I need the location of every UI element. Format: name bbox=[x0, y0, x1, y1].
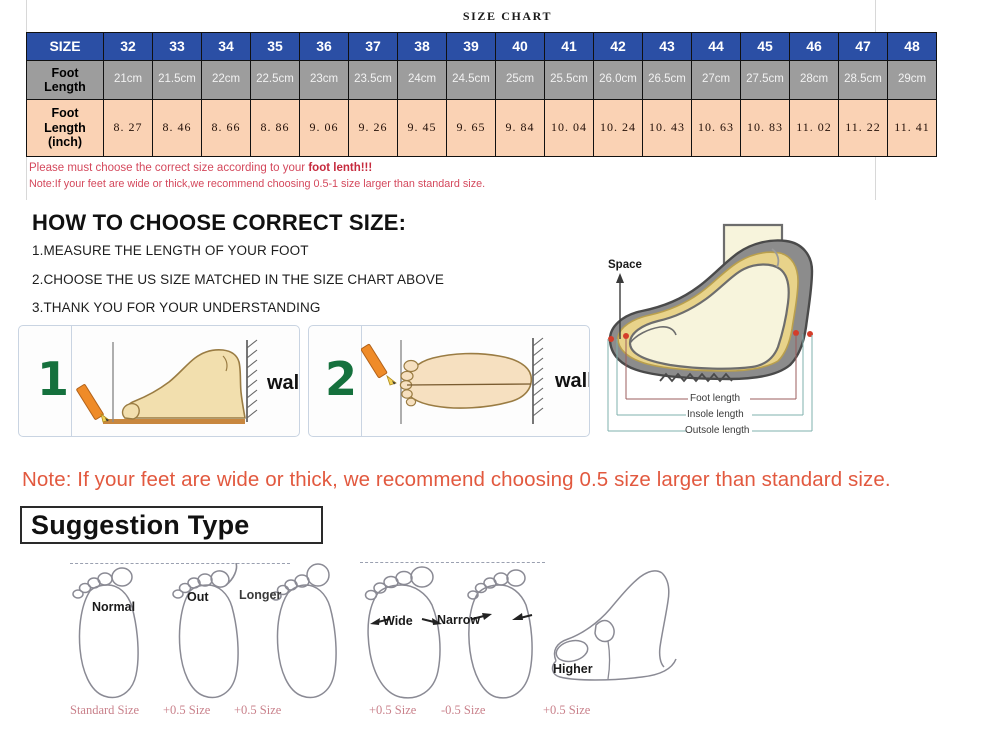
suggestion-label-wide: Wide bbox=[383, 614, 413, 628]
table-row-foot-length-inch: Foot Length (inch) 8. 27 8. 46 8. 66 8. … bbox=[27, 100, 937, 157]
how-to-step-1: 1.MEASURE THE LENGTH OF YOUR FOOT bbox=[32, 243, 309, 258]
suggestion-label-out: Out bbox=[187, 590, 209, 604]
how-to-step-3: 3.THANK YOU FOR YOUR UNDERSTANDING bbox=[32, 300, 320, 315]
foot-silhouette bbox=[405, 354, 531, 409]
header-cell-size-38: 38 bbox=[398, 33, 447, 61]
step-1-number: 1 bbox=[37, 356, 69, 402]
row-label-line3: (inch) bbox=[27, 135, 103, 149]
narrow-arrows bbox=[472, 613, 532, 620]
header-cell-size-34: 34 bbox=[202, 33, 251, 61]
suggestion-caption-higher: +0.5 Size bbox=[543, 703, 590, 718]
header-cell-size-35: 35 bbox=[251, 33, 300, 61]
row-label-line1: Foot bbox=[27, 66, 103, 80]
suggestion-label-normal: Normal bbox=[92, 600, 135, 614]
cell-cm-43: 26.5cm bbox=[643, 61, 692, 100]
header-cell-size: SIZE bbox=[27, 33, 104, 61]
row-label-foot-length-inch: Foot Length (inch) bbox=[27, 100, 104, 157]
cell-cm-32: 21cm bbox=[104, 61, 153, 100]
size-chart-page: SIZE CHART SIZE 32 33 34 35 36 37 38 39 … bbox=[0, 0, 1000, 730]
cell-inch-41: 10. 04 bbox=[545, 100, 594, 157]
header-cell-size-32: 32 bbox=[104, 33, 153, 61]
foot-outline-normal bbox=[73, 568, 138, 697]
suggestion-label-longer: Longer bbox=[239, 588, 281, 602]
cell-cm-48: 29cm bbox=[888, 61, 937, 100]
cell-cm-47: 28.5cm bbox=[839, 61, 888, 100]
step-1-wall-label: wall bbox=[267, 372, 300, 395]
suggestion-caption-narrow: -0.5 Size bbox=[441, 703, 485, 718]
header-cell-size-37: 37 bbox=[349, 33, 398, 61]
floor-board bbox=[103, 419, 245, 424]
shoe-foot-length-label: Foot length bbox=[690, 393, 740, 404]
cell-inch-34: 8. 66 bbox=[202, 100, 251, 157]
suggestion-caption-wide: +0.5 Size bbox=[369, 703, 416, 718]
suggestion-foot-outlines-group-2 bbox=[360, 563, 690, 713]
cell-inch-44: 10. 63 bbox=[692, 100, 741, 157]
cell-cm-37: 23.5cm bbox=[349, 61, 398, 100]
suggestion-type-heading-box: Suggestion Type bbox=[20, 506, 323, 544]
cell-inch-40: 9. 84 bbox=[496, 100, 545, 157]
row-label-foot-length-cm: Foot Length bbox=[27, 61, 104, 100]
cell-cm-42: 26.0cm bbox=[594, 61, 643, 100]
measure-step-2-diagram: 2 bbox=[308, 325, 590, 437]
pencil-icon bbox=[76, 384, 109, 422]
cell-inch-45: 10. 83 bbox=[741, 100, 790, 157]
header-cell-size-40: 40 bbox=[496, 33, 545, 61]
cell-cm-41: 25.5cm bbox=[545, 61, 594, 100]
page-title: SIZE CHART bbox=[0, 9, 1000, 24]
row-label-line1: Foot bbox=[27, 106, 103, 120]
marker-toe-outsole bbox=[608, 336, 614, 342]
step-2-number: 2 bbox=[325, 356, 357, 402]
header-cell-size-42: 42 bbox=[594, 33, 643, 61]
measure-step-1-diagram: 1 bbox=[18, 325, 300, 437]
foot-silhouette bbox=[124, 350, 245, 418]
size-chart-table: SIZE 32 33 34 35 36 37 38 39 40 41 42 43… bbox=[26, 32, 937, 157]
table-header-row: SIZE 32 33 34 35 36 37 38 39 40 41 42 43… bbox=[27, 33, 937, 61]
cell-inch-42: 10. 24 bbox=[594, 100, 643, 157]
suggestion-caption-longer: +0.5 Size bbox=[234, 703, 281, 718]
suggestion-label-higher: Higher bbox=[553, 662, 593, 676]
table-left-rule-lower bbox=[26, 150, 27, 200]
wall-hatching bbox=[247, 340, 257, 418]
shoe-insole-length-label: Insole length bbox=[687, 409, 744, 420]
marker-toe-foot bbox=[623, 333, 629, 339]
foot-outline-narrow bbox=[468, 570, 532, 698]
shoe-cross-section-diagram bbox=[600, 215, 900, 445]
foot-outline-wide bbox=[366, 567, 441, 698]
red-warning-notes: Please must choose the correct size acco… bbox=[29, 160, 569, 192]
row-label-line2: Length bbox=[27, 121, 103, 135]
red-note-line-1-bold: foot lenth!!! bbox=[308, 162, 372, 174]
pencil-icon bbox=[361, 344, 396, 385]
cell-inch-43: 10. 43 bbox=[643, 100, 692, 157]
header-cell-size-48: 48 bbox=[888, 33, 937, 61]
cell-inch-37: 9. 26 bbox=[349, 100, 398, 157]
foot-side-view-illustration bbox=[71, 326, 299, 437]
header-cell-size-41: 41 bbox=[545, 33, 594, 61]
big-toe bbox=[123, 404, 140, 419]
shoe-space-label: Space bbox=[608, 259, 642, 271]
cell-cm-40: 25cm bbox=[496, 61, 545, 100]
cell-cm-36: 23cm bbox=[300, 61, 349, 100]
suggestion-type-heading: Suggestion Type bbox=[22, 508, 321, 542]
table-left-rule bbox=[26, 0, 27, 32]
header-cell-size-44: 44 bbox=[692, 33, 741, 61]
cell-inch-47: 11. 22 bbox=[839, 100, 888, 157]
suggestion-caption-normal: Standard Size bbox=[70, 703, 139, 718]
foot-outline-longer bbox=[271, 564, 336, 697]
header-cell-size-36: 36 bbox=[300, 33, 349, 61]
cell-inch-46: 11. 02 bbox=[790, 100, 839, 157]
step-2-wall-label: wall bbox=[555, 370, 590, 393]
header-cell-size-43: 43 bbox=[643, 33, 692, 61]
cell-cm-44: 27cm bbox=[692, 61, 741, 100]
cell-cm-35: 22.5cm bbox=[251, 61, 300, 100]
how-to-heading: HOW TO CHOOSE CORRECT SIZE: bbox=[32, 210, 406, 236]
cell-inch-32: 8. 27 bbox=[104, 100, 153, 157]
red-note-line-2: Note:If your feet are wide or thick,we r… bbox=[29, 177, 569, 193]
foot-outline-out bbox=[173, 563, 238, 697]
red-note-line-1: Please must choose the correct size acco… bbox=[29, 160, 569, 177]
table-row-foot-length-cm: Foot Length 21cm 21.5cm 22cm 22.5cm 23cm… bbox=[27, 61, 937, 100]
orange-note: Note: If your feet are wide or thick, we… bbox=[22, 468, 891, 492]
cell-cm-38: 24cm bbox=[398, 61, 447, 100]
cell-cm-33: 21.5cm bbox=[153, 61, 202, 100]
row-label-line2: Length bbox=[27, 80, 103, 94]
header-cell-size-45: 45 bbox=[741, 33, 790, 61]
cell-inch-33: 8. 46 bbox=[153, 100, 202, 157]
header-cell-size-33: 33 bbox=[153, 33, 202, 61]
suggestion-label-narrow: Narrow bbox=[437, 613, 480, 627]
cell-cm-45: 27.5cm bbox=[741, 61, 790, 100]
red-note-line-1-text: Please must choose the correct size acco… bbox=[29, 162, 308, 174]
header-cell-size-39: 39 bbox=[447, 33, 496, 61]
cell-cm-34: 22cm bbox=[202, 61, 251, 100]
suggestion-caption-out: +0.5 Size bbox=[163, 703, 210, 718]
cell-inch-39: 9. 65 bbox=[447, 100, 496, 157]
shoe-outsole-length-label: Outsole length bbox=[685, 425, 750, 436]
header-cell-size-46: 46 bbox=[790, 33, 839, 61]
how-to-step-2: 2.CHOOSE THE US SIZE MATCHED IN THE SIZE… bbox=[32, 272, 444, 287]
wall-hatching bbox=[533, 338, 543, 416]
cell-inch-48: 11. 41 bbox=[888, 100, 937, 157]
cell-cm-46: 28cm bbox=[790, 61, 839, 100]
header-cell-size-47: 47 bbox=[839, 33, 888, 61]
cell-cm-39: 24.5cm bbox=[447, 61, 496, 100]
cell-inch-35: 8. 86 bbox=[251, 100, 300, 157]
cell-inch-36: 9. 06 bbox=[300, 100, 349, 157]
cell-inch-38: 9. 45 bbox=[398, 100, 447, 157]
